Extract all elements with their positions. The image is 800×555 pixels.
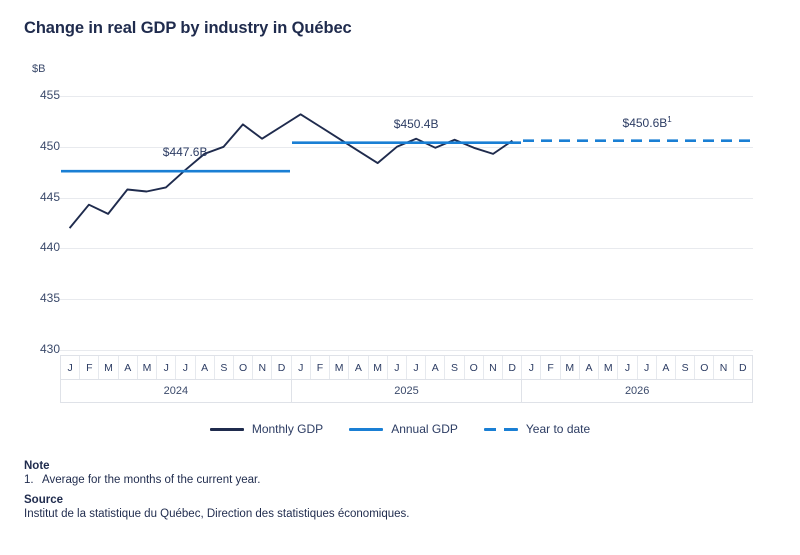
source-heading: Source: [24, 494, 764, 506]
x-axis-month-2024-J-6: J: [157, 356, 176, 379]
footnotes-block: Note 1.Average for the months of the cur…: [24, 460, 764, 520]
x-axis-month-2024-S-9: S: [215, 356, 234, 379]
x-axis-month-2026-D-12: D: [734, 356, 752, 379]
x-axis-month-2025-N-11: N: [484, 356, 503, 379]
x-axis-month-2025-D-12: D: [503, 356, 522, 379]
annotation-450-6: $450.6B1: [623, 115, 672, 130]
x-axis-month-2025-M-3: M: [330, 356, 349, 379]
legend-swatch-solid-icon: [210, 428, 244, 431]
x-axis-month-2024-N-11: N: [253, 356, 272, 379]
x-axis-month-2026-F-2: F: [541, 356, 560, 379]
x-axis-month-2025-A-4: A: [349, 356, 368, 379]
annotation-450-4: $450.4B: [394, 117, 439, 131]
x-axis-month-2026-S-9: S: [676, 356, 695, 379]
x-axis-month-2025-O-10: O: [465, 356, 484, 379]
x-axis-year-2025: 2025: [292, 380, 523, 402]
note-number: 1.: [24, 474, 42, 486]
legend-swatch-dashed-icon: [484, 428, 518, 431]
x-axis-month-2026-A-4: A: [580, 356, 599, 379]
chart-lines: [0, 0, 800, 400]
note-heading: Note: [24, 460, 764, 472]
x-axis-month-2025-S-9: S: [445, 356, 464, 379]
source-text: Institut de la statistique du Québec, Di…: [24, 508, 764, 520]
chart-legend: Monthly GDPAnnual GDPYear to date: [0, 422, 800, 436]
x-axis-year-row: 202420252026: [61, 379, 752, 402]
note-item: 1.Average for the months of the current …: [24, 474, 764, 486]
note-text: Average for the months of the current ye…: [42, 474, 260, 486]
annotation-447-6: $447.6B: [163, 145, 208, 159]
legend-label: Annual GDP: [391, 422, 458, 436]
x-axis-month-2026-M-5: M: [599, 356, 618, 379]
x-axis-month-2026-A-8: A: [657, 356, 676, 379]
x-axis-month-2026-J-1: J: [522, 356, 541, 379]
chart-plot-area: 455450445440435430 $447.6B$450.4B$450.6B…: [0, 0, 800, 400]
x-axis-month-2026-O-10: O: [695, 356, 714, 379]
x-axis-month-2024-A-8: A: [196, 356, 215, 379]
legend-item-monthly-gdp[interactable]: Monthly GDP: [210, 422, 323, 436]
x-axis-month-2026-N-11: N: [714, 356, 733, 379]
x-axis-year-2026: 2026: [522, 380, 752, 402]
x-axis-month-2024-J-7: J: [176, 356, 195, 379]
legend-label: Monthly GDP: [252, 422, 323, 436]
legend-item-year-to-date[interactable]: Year to date: [484, 422, 590, 436]
x-axis-month-2024-A-4: A: [119, 356, 138, 379]
x-axis-table: JFMAMJJASONDJFMAMJJASONDJFMAMJJASOND 202…: [60, 355, 753, 403]
x-axis-month-2025-A-8: A: [426, 356, 445, 379]
x-axis-month-2025-F-2: F: [311, 356, 330, 379]
x-axis-month-row: JFMAMJJASONDJFMAMJJASONDJFMAMJJASOND: [61, 356, 752, 379]
x-axis-month-2025-J-6: J: [388, 356, 407, 379]
x-axis-month-2025-J-7: J: [407, 356, 426, 379]
legend-label: Year to date: [526, 422, 590, 436]
x-axis-month-2024-D-12: D: [272, 356, 291, 379]
x-axis-month-2025-J-1: J: [292, 356, 311, 379]
x-axis-month-2025-M-5: M: [369, 356, 388, 379]
annotation-footnote-marker: 1: [667, 115, 671, 124]
x-axis-month-2026-J-6: J: [618, 356, 637, 379]
x-axis-month-2024-F-2: F: [80, 356, 99, 379]
x-axis-month-2024-M-5: M: [138, 356, 157, 379]
x-axis-month-2024-J-1: J: [61, 356, 80, 379]
x-axis-month-2026-J-7: J: [638, 356, 657, 379]
legend-swatch-solid-icon: [349, 428, 383, 431]
x-axis-month-2026-M-3: M: [561, 356, 580, 379]
legend-item-annual-gdp[interactable]: Annual GDP: [349, 422, 458, 436]
x-axis-month-2024-M-3: M: [99, 356, 118, 379]
x-axis-year-2024: 2024: [61, 380, 292, 402]
x-axis-month-2024-O-10: O: [234, 356, 253, 379]
